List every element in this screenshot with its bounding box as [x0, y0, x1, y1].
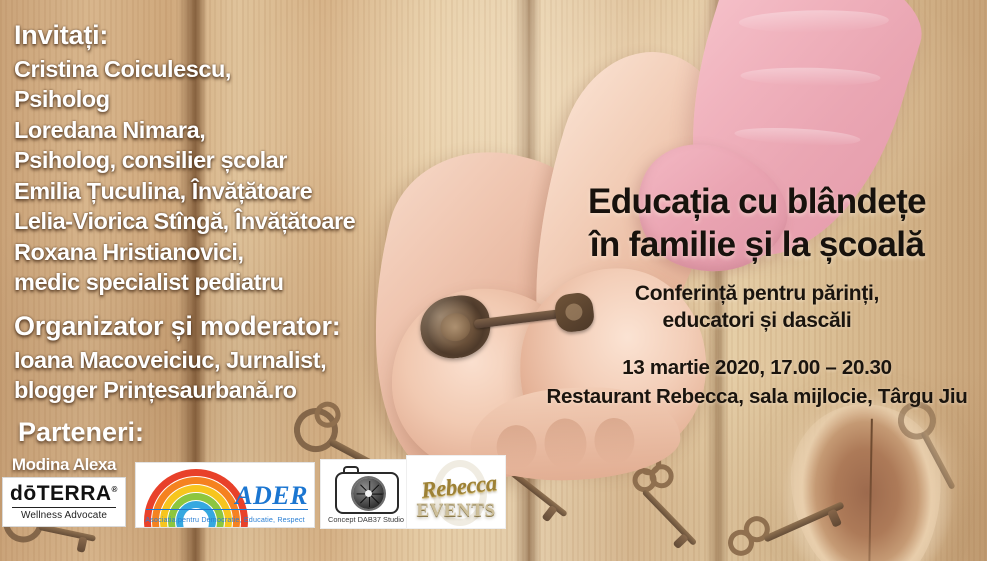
- page-title: Educația cu blândețe în familie și la șc…: [527, 180, 987, 267]
- subtitle-line-1: Conferință pentru părinți,: [527, 281, 987, 308]
- organizer-heading: Organizator și moderator:: [14, 309, 434, 345]
- spacer: [14, 298, 434, 309]
- guest-line: Emilia Țuculina, Învățătoare: [14, 176, 434, 207]
- guest-line: Cristina Coiculescu,: [14, 54, 434, 85]
- subtitle-line-2: educatori și dascăli: [527, 308, 987, 335]
- organizer-line: blogger Prințesaurbană.ro: [14, 375, 434, 406]
- ader-tagline: Asociatia pentru Democratie, Educatie, R…: [136, 515, 314, 524]
- rainbow-icon: [144, 469, 248, 521]
- ader-wordmark: ADER: [235, 481, 308, 511]
- partner-logo-rebecca-events[interactable]: Rebecca EVENTS: [406, 455, 506, 529]
- event-meta: 13 martie 2020, 17.00 – 20.30 Restaurant…: [527, 353, 987, 412]
- event-subtitle: Conferință pentru părinți, educatori și …: [527, 281, 987, 335]
- organizer-line: Ioana Macoveiciuc, Jurnalist,: [14, 345, 434, 376]
- doterra-tagline: Wellness Advocate: [21, 510, 107, 521]
- doterra-wordmark: dōTERRA®: [10, 483, 118, 504]
- guest-line: Psiholog, consilier școlar: [14, 145, 434, 176]
- guest-line: Loredana Nimara,: [14, 115, 434, 146]
- guests-heading: Invitați:: [14, 18, 434, 54]
- guests-panel: Invitați: Cristina Coiculescu, Psiholog …: [14, 18, 434, 406]
- event-poster: Invitați: Cristina Coiculescu, Psiholog …: [0, 0, 987, 561]
- partner-logo-dab37[interactable]: Concept DAB37 Studio: [320, 459, 412, 529]
- rebecca-events-wordmark: EVENTS: [407, 500, 505, 522]
- title-line-2: în familie și la școală: [527, 223, 987, 266]
- doterra-above-label: Modina Alexa: [2, 455, 126, 475]
- event-venue: Restaurant Rebecca, sala mijlocie, Târgu…: [527, 382, 987, 412]
- event-datetime: 13 martie 2020, 17.00 – 20.30: [527, 353, 987, 383]
- event-details-panel: Educația cu blândețe în familie și la șc…: [527, 180, 987, 412]
- guest-line: Lelia-Viorica Stîngă, Învățătoare: [14, 206, 434, 237]
- divider: [12, 507, 116, 508]
- guest-line: Psiholog: [14, 84, 434, 115]
- divider: [146, 509, 308, 511]
- partner-logo-ader[interactable]: ADER Asociatia pentru Democratie, Educat…: [135, 462, 315, 528]
- partners-heading: Parteneri:: [18, 417, 144, 448]
- partner-logo-doterra[interactable]: dōTERRA® Wellness Advocate: [2, 477, 126, 527]
- guest-line: Roxana Hristianovici,: [14, 237, 434, 268]
- dab37-caption: Concept DAB37 Studio: [321, 515, 411, 524]
- camera-lens-icon: [353, 478, 384, 509]
- title-line-1: Educația cu blândețe: [527, 180, 987, 223]
- guest-line: medic specialist pediatru: [14, 267, 434, 298]
- trademark-symbol: ®: [112, 485, 118, 494]
